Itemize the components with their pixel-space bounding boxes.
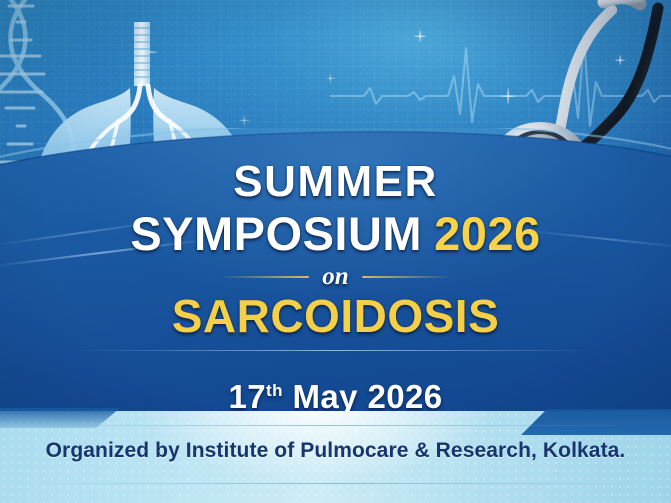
topic-title: SARCOIDOSIS bbox=[0, 292, 671, 340]
footer-rule-top bbox=[26, 425, 645, 426]
organizer-text: Organized by Institute of Pulmocare & Re… bbox=[0, 439, 671, 463]
footer-rule-bottom bbox=[26, 483, 645, 484]
connector-row: on bbox=[0, 264, 671, 290]
footer-wedge-right bbox=[521, 409, 671, 435]
organizer-footer: Organized by Institute of Pulmocare & Re… bbox=[0, 411, 671, 503]
date-divider bbox=[76, 350, 596, 351]
date-month-year: May 2026 bbox=[292, 378, 442, 415]
connector-label: on bbox=[322, 263, 348, 291]
connector-rule-right bbox=[362, 276, 448, 278]
banner-content: SUMMER SYMPOSIUM2026 on SARCOIDOSIS 17th… bbox=[0, 160, 671, 416]
date-ordinal: th bbox=[266, 381, 283, 400]
date-day: 17 bbox=[229, 378, 267, 415]
title-word-symposium: SYMPOSIUM bbox=[130, 207, 422, 260]
title-line-summer: SUMMER bbox=[0, 160, 671, 204]
title-line-symposium: SYMPOSIUM2026 bbox=[0, 210, 671, 257]
title-year: 2026 bbox=[434, 207, 541, 260]
conference-banner: SUMMER SYMPOSIUM2026 on SARCOIDOSIS 17th… bbox=[0, 0, 671, 503]
connector-rule-left bbox=[223, 276, 309, 278]
